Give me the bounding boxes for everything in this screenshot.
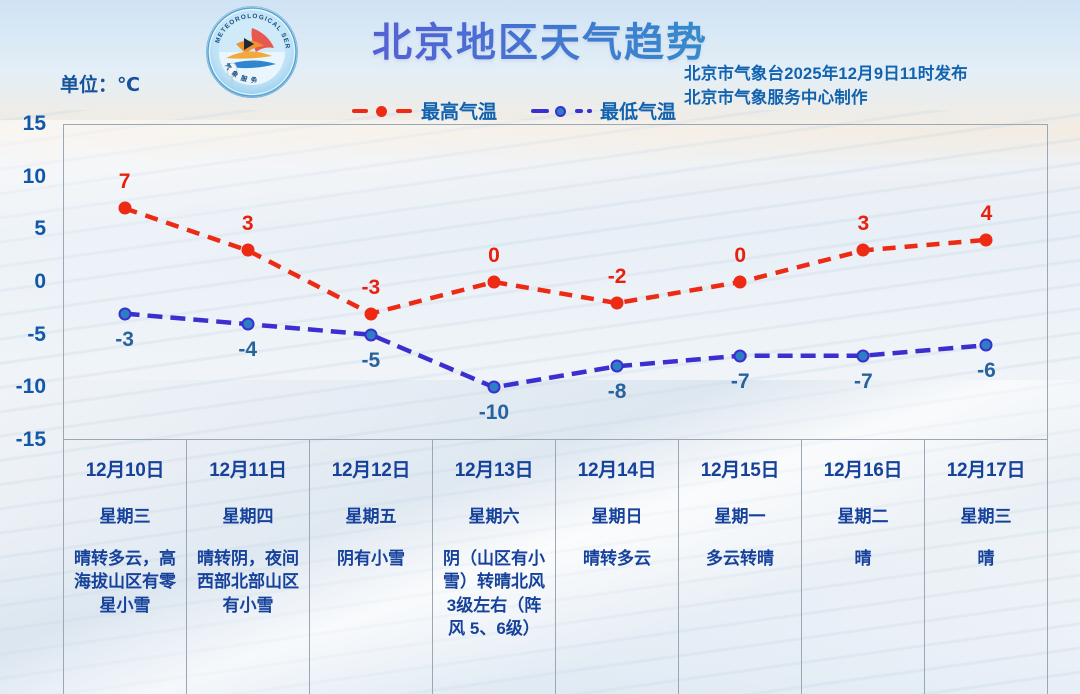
forecast-date: 12月12日 [332, 455, 410, 482]
publisher-info: 北京市气象台2025年12月9日11时发布 北京市气象服务中心制作 [684, 63, 968, 111]
forecast-description: 晴转多云 [577, 547, 657, 570]
chart-plot-area [63, 124, 1048, 440]
forecast-weekday: 星期二 [838, 502, 889, 527]
page-title: 北京地区天气趋势 [0, 10, 1080, 68]
legend-line-high-icon [352, 104, 414, 118]
forecast-description: 阴有小雪 [331, 547, 411, 570]
forecast-column[interactable]: 12月17日星期三晴 [925, 440, 1048, 694]
forecast-date: 12月13日 [455, 455, 533, 482]
forecast-date: 12月11日 [209, 455, 286, 482]
y-axis-tick: 15 [0, 112, 56, 136]
y-axis-tick: 5 [0, 217, 56, 241]
forecast-date: 12月16日 [824, 455, 902, 482]
forecast-weekday: 星期三 [961, 502, 1012, 527]
forecast-column[interactable]: 12月16日星期二晴 [802, 440, 925, 694]
forecast-column[interactable]: 12月13日星期六阴（山区有小雪）转晴北风3级左右（阵风 5、6级） [433, 440, 556, 694]
forecast-column[interactable]: 12月12日星期五阴有小雪 [310, 440, 433, 694]
y-axis-tick: 10 [0, 165, 56, 189]
legend-label-high: 最高气温 [421, 97, 497, 124]
chart-legend: 最高气温 最低气温 [352, 97, 676, 124]
unit-label: 单位：℃ [60, 70, 140, 97]
legend-item-high: 最高气温 [352, 97, 497, 124]
forecast-column[interactable]: 12月15日星期一多云转晴 [679, 440, 802, 694]
forecast-date: 12月15日 [701, 455, 779, 482]
forecast-description: 晴 [849, 547, 878, 570]
forecast-date: 12月10日 [86, 455, 164, 482]
forecast-weekday: 星期五 [346, 502, 397, 527]
forecast-column[interactable]: 12月11日星期四晴转阴，夜间西部北部山区有小雪 [187, 440, 310, 694]
forecast-weekday: 星期六 [469, 502, 520, 527]
legend-item-low: 最低气温 [531, 97, 676, 124]
y-axis-tick: -15 [0, 428, 56, 452]
publisher-line-1: 北京市气象台2025年12月9日11时发布 [684, 63, 968, 87]
forecast-description: 阴（山区有小雪）转晴北风3级左右（阵风 5、6级） [433, 547, 555, 641]
y-axis-tick: 0 [0, 270, 56, 294]
forecast-description: 多云转晴 [700, 547, 780, 570]
legend-dot-low-icon [555, 106, 566, 117]
forecast-table: 12月10日星期三晴转多云，高海拔山区有零星小雪12月11日星期四晴转阴，夜间西… [63, 440, 1048, 694]
forecast-description: 晴 [972, 547, 1001, 570]
forecast-column[interactable]: 12月14日星期日晴转多云 [556, 440, 679, 694]
legend-line-low-icon [531, 104, 593, 118]
forecast-weekday: 星期三 [100, 502, 151, 527]
legend-label-low: 最低气温 [600, 97, 676, 124]
legend-dot-high-icon [376, 106, 387, 117]
publisher-line-2: 北京市气象服务中心制作 [684, 87, 968, 111]
forecast-description: 晴转多云，高海拔山区有零星小雪 [64, 547, 186, 617]
forecast-description: 晴转阴，夜间西部北部山区有小雪 [187, 547, 309, 617]
forecast-weekday: 星期日 [592, 502, 643, 527]
y-axis-tick: -10 [0, 375, 56, 399]
y-axis: 151050-5-10-15 [0, 124, 56, 440]
forecast-date: 12月14日 [578, 455, 656, 482]
forecast-date: 12月17日 [947, 455, 1025, 482]
forecast-weekday: 星期一 [715, 502, 766, 527]
forecast-column[interactable]: 12月10日星期三晴转多云，高海拔山区有零星小雪 [64, 440, 187, 694]
y-axis-tick: -5 [0, 323, 56, 347]
forecast-weekday: 星期四 [223, 502, 274, 527]
